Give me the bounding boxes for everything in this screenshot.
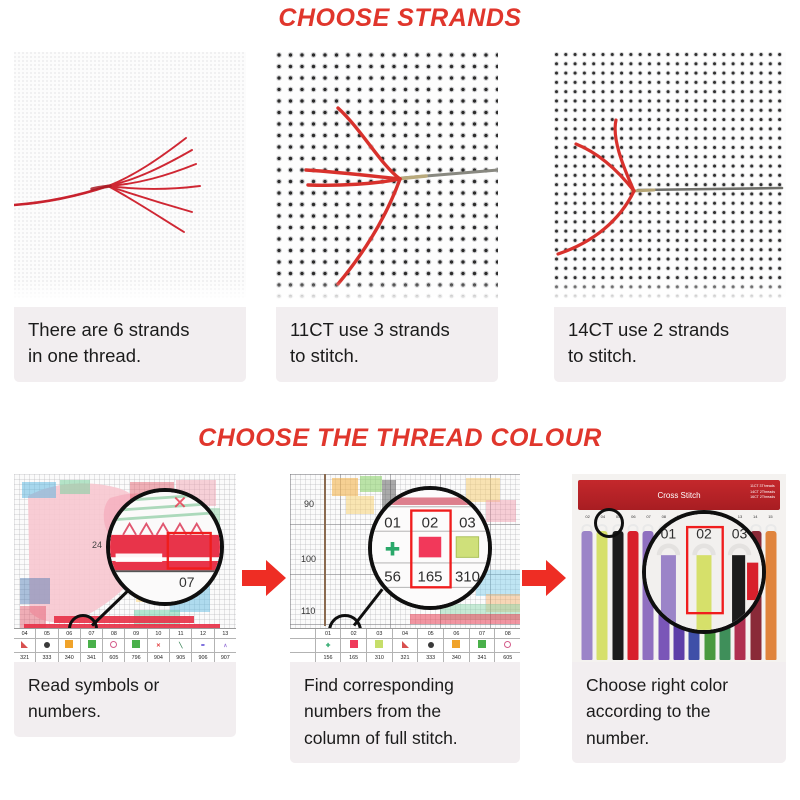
caption-line-3: column of full stitch. bbox=[304, 725, 508, 751]
caption-line-1: 14CT use 2 strands bbox=[568, 317, 774, 343]
caption-14ct: 14CT use 2 strands to stitch. bbox=[554, 307, 786, 382]
legend-strip-full-stitch: 01 02 03 04 05 06 07 08 ✚ bbox=[290, 628, 520, 662]
floss-card-legend: 11CT 3Threads 14CT 2Threads 16CT 2Thread… bbox=[750, 484, 775, 501]
caption-line-1: Read symbols or bbox=[28, 672, 224, 698]
legend-symbol-triangle-icon bbox=[14, 639, 36, 653]
legend-symbol-green-square-icon bbox=[470, 639, 496, 653]
magnifier-circle-numbers: 01 02 03 ✚ 56 165 310 bbox=[368, 486, 492, 610]
legend-thread-number: 605 bbox=[495, 653, 520, 662]
legend-thread-number: 340 bbox=[59, 653, 81, 662]
skein-floss bbox=[765, 531, 776, 660]
floss-card-title: Cross Stitch bbox=[657, 491, 700, 500]
magnified-column: 03 bbox=[459, 514, 476, 531]
caption-11ct: 11CT use 3 strands to stitch. bbox=[276, 307, 498, 382]
legend-thread-number: 905 bbox=[170, 653, 192, 662]
infographic-page: CHOOSE STRANDS bbox=[0, 0, 800, 800]
magnified-symbol-label: 07 bbox=[179, 574, 195, 590]
next-step-arrow-1 bbox=[242, 558, 286, 598]
panel-find-numbers: 90 100 110 bbox=[290, 474, 520, 788]
magnified-thread-number: 165 bbox=[418, 569, 443, 586]
legend-code: 10 bbox=[148, 629, 170, 639]
caption-line-1: 11CT use 3 strands bbox=[290, 317, 486, 343]
legend-thread-number: 321 bbox=[393, 653, 419, 662]
caption-line-2: numbers from the bbox=[304, 698, 508, 724]
section-title-choose-strands: CHOOSE STRANDS bbox=[0, 4, 800, 33]
caption-line-2: to stitch. bbox=[290, 343, 486, 369]
photo-pattern-chart-symbols: 24 bbox=[14, 474, 236, 662]
photo-11ct bbox=[276, 52, 498, 307]
skein-floss bbox=[597, 531, 608, 660]
panel-14ct-two-strands: 14CT use 2 strands to stitch. bbox=[554, 52, 786, 392]
legend-code: 08 bbox=[495, 629, 520, 639]
chart-symbol-label: 24 bbox=[92, 540, 102, 550]
floss-card-header: Cross Stitch 11CT 3Threads 14CT 2Threads… bbox=[578, 480, 780, 510]
magnified-pattern: 07 bbox=[110, 492, 220, 602]
svg-text:✚: ✚ bbox=[385, 538, 401, 559]
legend-thread-number: 341 bbox=[81, 653, 103, 662]
magnified-thread-number: 56 bbox=[384, 569, 401, 586]
photo-fade bbox=[14, 281, 246, 307]
legend-symbol-green-cross-icon: ✚ bbox=[316, 639, 342, 653]
floss-skein bbox=[580, 524, 594, 662]
photo-14ct bbox=[554, 52, 786, 307]
row-label: 90 bbox=[304, 499, 314, 509]
legend-code: 07 bbox=[470, 629, 496, 639]
floss-card: Cross Stitch 11CT 3Threads 14CT 2Threads… bbox=[572, 474, 786, 662]
caption-line-2: in one thread. bbox=[28, 343, 234, 369]
caption-line-1: Choose right color bbox=[586, 672, 774, 698]
legend-codes-row: 04 05 06 07 08 09 10 11 12 13 bbox=[14, 629, 236, 639]
caption-line-2: according to the bbox=[586, 698, 774, 724]
legend-code: 09 bbox=[125, 629, 147, 639]
magnifier-source-circle bbox=[594, 508, 624, 538]
magnified-legend: 01 02 03 ✚ 56 165 310 bbox=[372, 490, 488, 606]
legend-code: 01 bbox=[316, 629, 342, 639]
caption-read-symbols: Read symbols or numbers. bbox=[14, 662, 236, 737]
legend-code: 06 bbox=[444, 629, 470, 639]
floss-skein bbox=[595, 524, 609, 662]
caption-find-numbers: Find corresponding numbers from the colu… bbox=[290, 662, 520, 763]
caption-line-1: There are 6 strands bbox=[28, 317, 234, 343]
legend-symbol-pen-icon: ✒ bbox=[192, 639, 214, 653]
caption-choose-colour: Choose right color according to the numb… bbox=[572, 662, 786, 763]
legend-code: 11 bbox=[170, 629, 192, 639]
legend-thread-numbers-row: 156 165 310 321 333 340 341 605 bbox=[290, 653, 520, 662]
legend-symbol-filled-square-icon bbox=[125, 639, 147, 653]
legend-symbol-open-circle-icon bbox=[495, 639, 520, 653]
floss-skein bbox=[626, 524, 640, 662]
legend-thread-number: 605 bbox=[103, 653, 125, 662]
legend-item: 11CT 3Threads bbox=[750, 484, 775, 490]
legend-symbol-open-circle-icon bbox=[103, 639, 125, 653]
panel-11ct-three-strands: 11CT use 3 strands to stitch. bbox=[276, 52, 498, 392]
caption-line-3: number. bbox=[586, 725, 774, 751]
magnifier-circle-skein: 01 02 03 bbox=[642, 510, 766, 634]
skein-floss bbox=[628, 531, 639, 660]
magnified-column: 03 bbox=[732, 525, 748, 541]
legend-code: 04 bbox=[393, 629, 419, 639]
legend-thread-number: 907 bbox=[215, 653, 236, 662]
legend-thread-number: 906 bbox=[192, 653, 214, 662]
legend-symbol-red-square-icon bbox=[341, 639, 367, 653]
photo-six-strands bbox=[14, 52, 246, 307]
panel-read-symbols: 24 bbox=[14, 474, 236, 788]
legend-code: 08 bbox=[103, 629, 125, 639]
legend-symbol-green-square-icon bbox=[81, 639, 103, 653]
legend-thread-number: 341 bbox=[470, 653, 496, 662]
photo-fade bbox=[276, 281, 498, 307]
caption-line-2: numbers. bbox=[28, 698, 224, 724]
photo-fade bbox=[554, 281, 786, 307]
panel-six-strands: There are 6 strands in one thread. bbox=[14, 52, 246, 392]
skein-floss bbox=[582, 531, 593, 660]
legend-symbol-caret-icon: ∧ bbox=[215, 639, 236, 653]
magnified-column: 01 bbox=[661, 525, 677, 541]
legend-thread-number: 340 bbox=[444, 653, 470, 662]
legend-code: 05 bbox=[418, 629, 444, 639]
legend-symbol-lime-square-icon bbox=[367, 639, 393, 653]
floss-skein bbox=[611, 524, 625, 662]
magnified-symbols: ✚ bbox=[385, 537, 479, 560]
row-label: 100 bbox=[301, 554, 316, 564]
caption-line-1: Find corresponding bbox=[304, 672, 508, 698]
row-label: 110 bbox=[301, 606, 315, 616]
legend-code: 04 bbox=[14, 629, 36, 639]
legend-code: 13 bbox=[215, 629, 236, 639]
magnifier-circle-symbols: 07 bbox=[106, 488, 224, 606]
needle-and-three-strands-illustration bbox=[276, 52, 498, 307]
legend-code: 12 bbox=[192, 629, 214, 639]
legend-header-cell bbox=[290, 629, 316, 639]
skein-floss bbox=[612, 531, 623, 660]
legend-header-cell bbox=[290, 653, 316, 662]
legend-thread-number: 165 bbox=[341, 653, 367, 662]
legend-codes-row: 01 02 03 04 05 06 07 08 bbox=[290, 629, 520, 639]
magnified-floss bbox=[661, 555, 758, 630]
legend-symbol-orange-square-icon bbox=[444, 639, 470, 653]
thread-six-strands-illustration bbox=[14, 52, 246, 307]
legend-strip-symbols: 04 05 06 07 08 09 10 11 12 13 bbox=[14, 628, 236, 662]
floss-skein bbox=[764, 524, 778, 662]
needle-and-two-strands-illustration bbox=[554, 52, 786, 307]
magnified-column: 01 bbox=[384, 514, 401, 531]
legend-symbol-cross-icon: ✕ bbox=[148, 639, 170, 653]
section-title-choose-thread-colour: CHOOSE THE THREAD COLOUR bbox=[0, 424, 800, 453]
legend-item: 16CT 2Threads bbox=[750, 495, 775, 501]
panel-choose-colour: Cross Stitch 11CT 3Threads 14CT 2Threads… bbox=[572, 474, 786, 788]
caption-six-strands: There are 6 strands in one thread. bbox=[14, 307, 246, 382]
legend-thread-number: 904 bbox=[148, 653, 170, 662]
legend-header-cell bbox=[290, 639, 316, 653]
magnified-column: 02 bbox=[422, 514, 439, 531]
legend-code: 05 bbox=[36, 629, 58, 639]
caption-line-2: to stitch. bbox=[568, 343, 774, 369]
legend-symbol-slash-icon: ╲ bbox=[170, 639, 192, 653]
legend-thread-number: 333 bbox=[418, 653, 444, 662]
next-step-arrow-2 bbox=[522, 558, 566, 598]
magnified-thread-number: 310 bbox=[455, 569, 480, 586]
legend-thread-number: 310 bbox=[367, 653, 393, 662]
legend-thread-numbers-row: 321 333 340 341 605 796 904 905 906 907 bbox=[14, 653, 236, 662]
photo-chart-with-row-numbers: 90 100 110 bbox=[290, 474, 520, 662]
legend-symbols-row: ✕ ╲ ✒ ∧ bbox=[14, 639, 236, 653]
photo-floss-card: Cross Stitch 11CT 3Threads 14CT 2Threads… bbox=[572, 474, 786, 662]
legend-symbol-dot-icon bbox=[36, 639, 58, 653]
magnified-skeins: 01 02 03 bbox=[646, 514, 762, 630]
legend-code: 06 bbox=[59, 629, 81, 639]
legend-code: 03 bbox=[367, 629, 393, 639]
legend-code: 07 bbox=[81, 629, 103, 639]
legend-thread-number: 156 bbox=[316, 653, 342, 662]
legend-symbol-dot-icon bbox=[418, 639, 444, 653]
legend-symbol-triangle-icon bbox=[393, 639, 419, 653]
legend-thread-number: 333 bbox=[36, 653, 58, 662]
legend-symbols-row: ✚ bbox=[290, 639, 520, 653]
legend-thread-number: 321 bbox=[14, 653, 36, 662]
legend-thread-number: 796 bbox=[125, 653, 147, 662]
legend-code: 02 bbox=[341, 629, 367, 639]
legend-symbol-orange-square-icon bbox=[59, 639, 81, 653]
